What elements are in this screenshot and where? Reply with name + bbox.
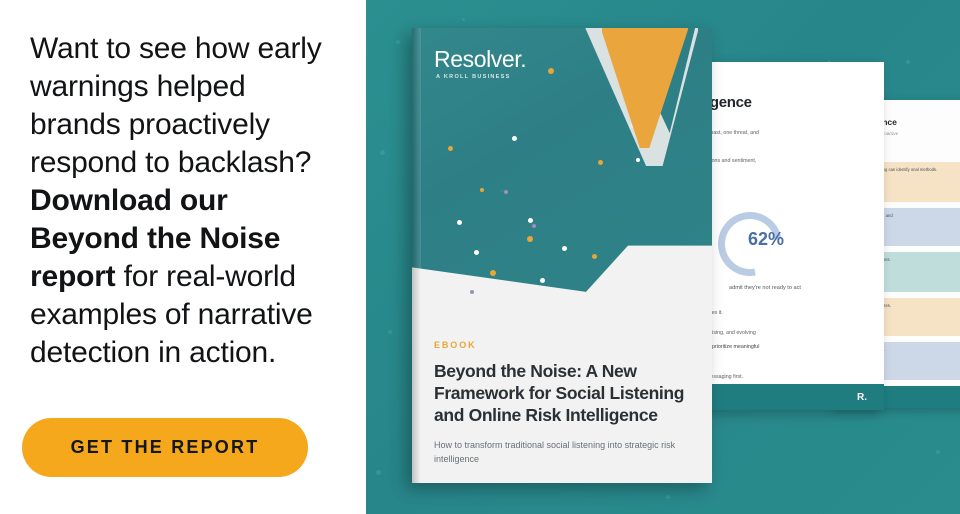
promo-banner: Want to see how early warnings helped br… [0, 0, 960, 514]
resolver-logo: Resolver. A KROLL BUSINESS [434, 46, 526, 80]
page2-body-line: prioritize meaningful [712, 344, 759, 350]
cover-title: Beyond the Noise: A New Framework for So… [434, 360, 696, 426]
logo-wordmark: Resolver. [434, 46, 526, 73]
page2-body-line: ntions and sentiment, [706, 158, 756, 164]
cover-spine [412, 28, 421, 483]
logo-tagline: A KROLL BUSINESS [436, 74, 526, 80]
page2-body-line: ertising, and evolving [706, 330, 756, 336]
promo-text-panel: Want to see how early warnings helped br… [0, 0, 366, 514]
page2-body-line: o past, one threat, and [706, 130, 759, 136]
headline-lead: Want to see how early warnings helped br… [30, 32, 322, 179]
stat-caption: admit they're not ready to act [710, 284, 820, 293]
page2-heading: igence [706, 94, 752, 111]
cover-text-block: EBOOK Beyond the Noise: A New Framework … [434, 340, 696, 466]
stat-value: 62% [734, 229, 798, 250]
cover-subtitle: How to transform traditional social list… [434, 438, 696, 466]
page-title: Want to see how early warnings helped br… [30, 30, 344, 372]
brochure-page-2: igence o past, one threat, and ntions an… [696, 62, 884, 410]
resolver-mark: R. [847, 392, 867, 403]
cover-eyebrow: EBOOK [434, 340, 696, 350]
artwork-panel: s Confidence m from reactive to proactiv… [366, 0, 960, 514]
ebook-cover[interactable]: Resolver. A KROLL BUSINESS EBOOK Beyond … [412, 28, 712, 483]
cta-label: GET THE REPORT [71, 437, 260, 458]
get-the-report-button[interactable]: GET THE REPORT [22, 418, 308, 477]
